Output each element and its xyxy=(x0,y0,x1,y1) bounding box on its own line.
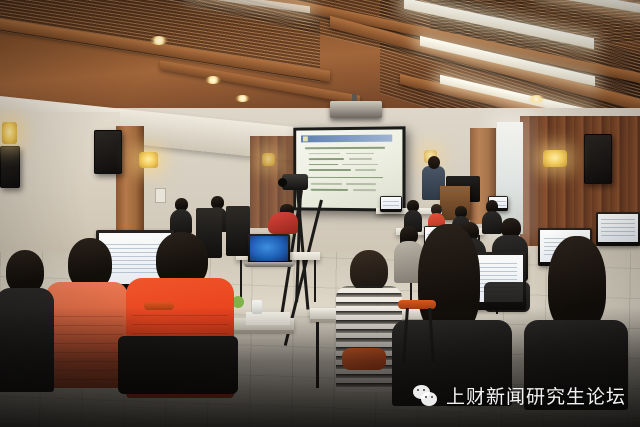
wall-speaker-far-left xyxy=(0,146,20,188)
wall-speaker-right xyxy=(584,134,612,184)
ceiling-downlight-2 xyxy=(205,76,221,84)
wall-sconce-left xyxy=(139,152,158,168)
watermark-text: 上财新闻研究生论坛 xyxy=(446,382,626,409)
ceiling-downlight-3 xyxy=(235,95,250,102)
presenter-head xyxy=(428,156,440,169)
ceiling-downlight-4 xyxy=(528,95,545,103)
wall-sconce-far-left xyxy=(2,122,17,144)
audience-member-back-6 xyxy=(170,198,192,232)
desk-leg xyxy=(314,260,316,302)
slide-title-bar xyxy=(301,134,392,142)
wall-sconce-center xyxy=(262,153,275,166)
monitor-back-1 xyxy=(380,196,402,212)
laptop-base-blue xyxy=(244,262,294,267)
wall-outlet xyxy=(155,188,166,203)
ceiling-downlight-1 xyxy=(150,36,168,45)
classroom-photograph: 上财新闻研究生论坛 xyxy=(0,0,640,427)
person-crouching-red xyxy=(268,204,298,238)
ceiling-projector xyxy=(330,101,382,118)
laptop-blue-screen xyxy=(248,234,290,264)
foreground-shadow xyxy=(0,307,640,427)
video-camera-lens xyxy=(278,178,287,187)
wall-speaker-left xyxy=(94,130,122,174)
wall-sconce-right xyxy=(543,150,567,167)
wechat-icon xyxy=(413,385,439,407)
watermark: 上财新闻研究生论坛 xyxy=(413,382,626,409)
